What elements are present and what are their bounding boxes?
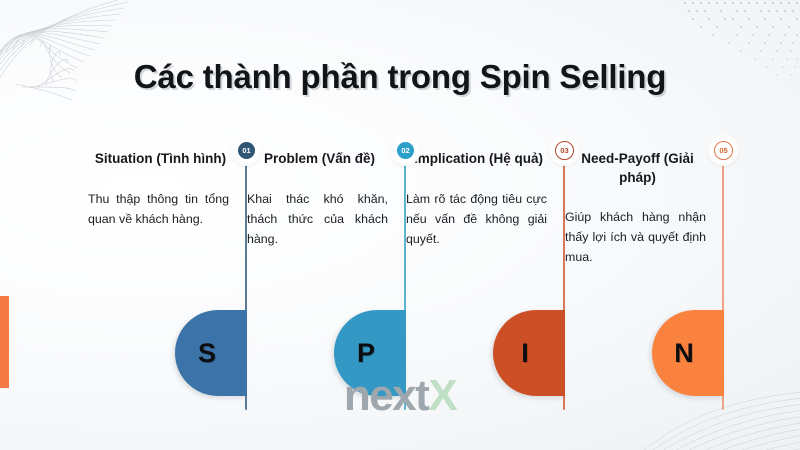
letter-blob-n-text: N (674, 338, 694, 369)
column-problem: 02 Problem (Vấn đề) Khai thác khó khăn, … (247, 142, 406, 402)
slide-canvas: Các thành phần trong Spin Selling 01 Sit… (0, 0, 800, 450)
page-title: Các thành phần trong Spin Selling (0, 58, 800, 96)
column-heading-need-payoff: Need-Payoff (Giải pháp) (565, 150, 724, 187)
letter-blob-p-text: P (357, 338, 375, 369)
column-body-need-payoff: Giúp khách hàng nhận thấy lợi ích và quy… (565, 207, 724, 267)
step-badge-02-number: 02 (397, 142, 414, 159)
column-body-problem: Khai thác khó khăn, thách thức của khách… (247, 189, 406, 249)
column-heading-situation: Situation (Tình hình) (88, 150, 247, 169)
step-badge-03: 03 (550, 136, 579, 165)
step-badge-05: 05 (709, 136, 738, 165)
spin-columns: 01 Situation (Tình hình) Thu thập thông … (88, 142, 724, 402)
watermark-x-text: X (428, 371, 456, 420)
step-badge-03-number: 03 (555, 141, 574, 160)
letter-blob-i-text: I (521, 338, 529, 369)
column-situation: 01 Situation (Tình hình) Thu thập thông … (88, 142, 247, 402)
step-badge-02: 02 (391, 136, 420, 165)
column-need-payoff: 05 Need-Payoff (Giải pháp) Giúp khách hà… (565, 142, 724, 402)
letter-blob-s: S (175, 310, 247, 396)
letter-blob-i: I (493, 310, 565, 396)
column-heading-implication: Implication (Hệ quả) (406, 150, 565, 169)
step-badge-01: 01 (232, 136, 261, 165)
column-heading-problem: Problem (Vấn đề) (247, 150, 406, 169)
column-implication: 03 Implication (Hệ quả) Làm rõ tác động … (406, 142, 565, 402)
step-badge-01-number: 01 (238, 142, 255, 159)
column-body-situation: Thu thập thông tin tổng quan về khách hà… (88, 189, 247, 229)
letter-blob-n: N (652, 310, 724, 396)
watermark-next-text: next (344, 371, 428, 420)
column-body-implication: Làm rõ tác động tiêu cực nếu vấn đề khôn… (406, 189, 565, 249)
step-badge-05-number: 05 (714, 141, 733, 160)
letter-blob-s-text: S (198, 338, 216, 369)
nextx-watermark: nextX (344, 371, 456, 421)
orange-accent-bar (0, 296, 9, 388)
